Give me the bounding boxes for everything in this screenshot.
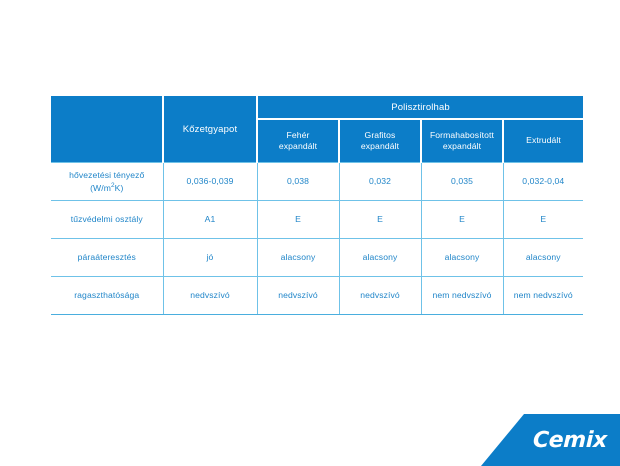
header-row-group: Kőzetgyapot Polisztirolhab bbox=[51, 96, 583, 119]
header-col-extruded: Extrudált bbox=[503, 119, 583, 163]
row-label-fire-class: tűzvédelmi osztály bbox=[51, 201, 163, 239]
header-col-rockwool: Kőzetgyapot bbox=[163, 96, 257, 163]
header-col-graphite-expanded: Grafitos expandált bbox=[339, 119, 421, 163]
header-col-moulded-expanded: Formahabosított expandált bbox=[421, 119, 503, 163]
cell-fire-rockwool: A1 bbox=[163, 201, 257, 239]
cell-vapour-extruded: alacsony bbox=[503, 239, 583, 277]
header-col-white-expanded-line2: expandált bbox=[279, 141, 317, 151]
cell-fire-white-expanded: E bbox=[257, 201, 339, 239]
header-col-extruded-line1: Extrudált bbox=[526, 135, 561, 145]
cell-thermal-white-expanded: 0,038 bbox=[257, 163, 339, 201]
row-label-adhesion: ragaszthatósága bbox=[51, 277, 163, 315]
cell-adhesion-rockwool: nedvszívó bbox=[163, 277, 257, 315]
header-col-moulded-expanded-line2: expandált bbox=[443, 141, 481, 151]
cell-thermal-rockwool: 0,036-0,039 bbox=[163, 163, 257, 201]
cell-vapour-moulded-expanded: alacsony bbox=[421, 239, 503, 277]
unit-prefix: (W/m bbox=[90, 183, 111, 193]
table-row: páraáteresztés jó alacsony alacsony alac… bbox=[51, 239, 583, 277]
row-label-vapour-permeability: páraáteresztés bbox=[51, 239, 163, 277]
insulation-comparison-table: Kőzetgyapot Polisztirolhab Fehér expandá… bbox=[51, 96, 583, 315]
table-body: hővezetési tényező (W/m2K) 0,036-0,039 0… bbox=[51, 163, 583, 315]
cell-adhesion-graphite-expanded: nedvszívó bbox=[339, 277, 421, 315]
cell-fire-extruded: E bbox=[503, 201, 583, 239]
header-col-white-expanded-line1: Fehér bbox=[287, 130, 310, 140]
table-row: ragaszthatósága nedvszívó nedvszívó nedv… bbox=[51, 277, 583, 315]
cell-adhesion-moulded-expanded: nem nedvszívó bbox=[421, 277, 503, 315]
row-label-thermal-conductivity: hővezetési tényező (W/m2K) bbox=[51, 163, 163, 201]
cell-fire-graphite-expanded: E bbox=[339, 201, 421, 239]
header-col-graphite-expanded-line1: Grafitos bbox=[365, 130, 396, 140]
cell-vapour-white-expanded: alacsony bbox=[257, 239, 339, 277]
table-header: Kőzetgyapot Polisztirolhab Fehér expandá… bbox=[51, 96, 583, 163]
cell-thermal-moulded-expanded: 0,035 bbox=[421, 163, 503, 201]
unit-suffix: K) bbox=[115, 183, 124, 193]
cell-adhesion-extruded: nem nedvszívó bbox=[503, 277, 583, 315]
row-label-thermal-conductivity-unit: (W/m2K) bbox=[90, 183, 123, 193]
cell-vapour-graphite-expanded: alacsony bbox=[339, 239, 421, 277]
cell-thermal-graphite-expanded: 0,032 bbox=[339, 163, 421, 201]
cell-vapour-rockwool: jó bbox=[163, 239, 257, 277]
header-col-white-expanded: Fehér expandált bbox=[257, 119, 339, 163]
header-col-moulded-expanded-line1: Formahabosított bbox=[430, 130, 494, 140]
header-col-graphite-expanded-line2: expandált bbox=[361, 141, 399, 151]
header-group-polystyrene: Polisztirolhab bbox=[257, 96, 583, 119]
cemix-wordmark: Cemix bbox=[533, 428, 620, 453]
table-row: tűzvédelmi osztály A1 E E E E bbox=[51, 201, 583, 239]
table-row: hővezetési tényező (W/m2K) 0,036-0,039 0… bbox=[51, 163, 583, 201]
cell-fire-moulded-expanded: E bbox=[421, 201, 503, 239]
header-corner-blank bbox=[51, 96, 163, 163]
cemix-logo: Cemix bbox=[481, 414, 620, 466]
cell-adhesion-white-expanded: nedvszívó bbox=[257, 277, 339, 315]
row-label-thermal-conductivity-line1: hővezetési tényező bbox=[69, 170, 144, 180]
slide-canvas: Kőzetgyapot Polisztirolhab Fehér expandá… bbox=[0, 0, 620, 466]
cell-thermal-extruded: 0,032-0,04 bbox=[503, 163, 583, 201]
